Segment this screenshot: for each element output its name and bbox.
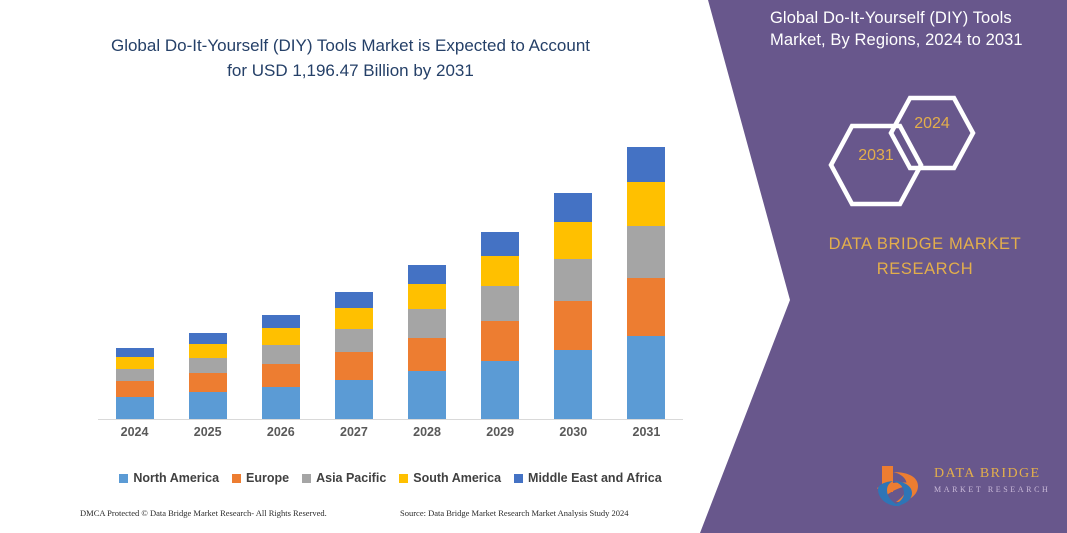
bar-column xyxy=(627,147,665,420)
legend-item[interactable]: South America xyxy=(399,471,501,485)
bar-segment xyxy=(554,350,592,420)
bar-segment xyxy=(408,338,446,371)
x-axis-tick-label: 2024 xyxy=(105,425,165,439)
footer-source: Source: Data Bridge Market Research Mark… xyxy=(400,508,629,518)
bar-segment xyxy=(408,265,446,285)
side-panel-title: Global Do-It-Yourself (DIY) Tools Market… xyxy=(770,8,1060,52)
legend-item[interactable]: Middle East and Africa xyxy=(514,471,662,485)
hexagon-group: 2031 2024 xyxy=(818,95,1018,205)
bar-segment xyxy=(554,193,592,222)
hexagon-2024-label: 2024 xyxy=(888,115,976,133)
x-axis-tick-label: 2028 xyxy=(397,425,457,439)
bar-column xyxy=(408,265,446,421)
bar-segment xyxy=(554,259,592,302)
legend-item[interactable]: Asia Pacific xyxy=(302,471,386,485)
bar-segment xyxy=(335,380,373,420)
bar-segment xyxy=(554,301,592,349)
legend-label: North America xyxy=(133,471,219,485)
bar-segment xyxy=(481,286,519,321)
x-axis-tick-label: 2029 xyxy=(470,425,530,439)
bar-segment xyxy=(116,397,154,420)
bar-column xyxy=(335,292,373,420)
bar-segment xyxy=(189,333,227,344)
chart-title-line-2: for USD 1,196.47 Billion by 2031 xyxy=(78,59,623,84)
x-axis-labels: 20242025202620272028202920302031 xyxy=(98,425,683,445)
footer-copyright: DMCA Protected © Data Bridge Market Rese… xyxy=(80,508,327,518)
bar-segment xyxy=(189,344,227,358)
bar-segment xyxy=(481,321,519,361)
bar-segment xyxy=(262,364,300,387)
bar-column xyxy=(189,333,227,420)
x-axis-tick-label: 2027 xyxy=(324,425,384,439)
legend-item[interactable]: Europe xyxy=(232,471,289,485)
bar-segment xyxy=(408,309,446,338)
bar-column xyxy=(262,315,300,420)
bar-segment xyxy=(335,308,373,329)
side-panel-title-line-2: Market, By Regions, 2024 to 2031 xyxy=(770,30,1060,52)
bar-segment xyxy=(116,381,154,397)
data-bridge-logo-text: DATA BRIDGE MARKET RESEARCH xyxy=(934,466,1050,494)
x-axis-tick-label: 2026 xyxy=(251,425,311,439)
legend-label: Europe xyxy=(246,471,289,485)
side-panel-title-line-1: Global Do-It-Yourself (DIY) Tools xyxy=(770,8,1060,30)
x-axis-tick-label: 2030 xyxy=(543,425,603,439)
bar-column xyxy=(481,232,519,420)
bar-segment xyxy=(627,147,665,182)
x-axis-tick-label: 2031 xyxy=(616,425,676,439)
x-axis-line xyxy=(98,419,683,420)
hexagon-2024: 2024 xyxy=(888,95,976,171)
data-bridge-logo-icon xyxy=(874,462,928,510)
bar-segment xyxy=(189,358,227,373)
legend-swatch-icon xyxy=(232,474,241,483)
brand-name-line-2: RESEARCH xyxy=(790,257,1060,282)
legend-swatch-icon xyxy=(514,474,523,483)
legend-swatch-icon xyxy=(302,474,311,483)
bar-segment xyxy=(627,226,665,278)
infographic-canvas: Global Do-It-Yourself (DIY) Tools Market… xyxy=(0,0,1067,533)
bar-segment xyxy=(481,361,519,420)
chart-title-line-1: Global Do-It-Yourself (DIY) Tools Market… xyxy=(78,34,623,59)
legend-swatch-icon xyxy=(119,474,128,483)
bar-segment xyxy=(481,256,519,286)
bar-segment xyxy=(481,232,519,256)
bar-segment xyxy=(627,182,665,227)
legend-swatch-icon xyxy=(399,474,408,483)
legend-label: Asia Pacific xyxy=(316,471,386,485)
bar-segment xyxy=(627,336,665,420)
bar-segment xyxy=(554,222,592,259)
bar-segment xyxy=(335,329,373,352)
bar-segment xyxy=(116,369,154,382)
bar-segment xyxy=(335,352,373,380)
legend-item[interactable]: North America xyxy=(119,471,219,485)
data-bridge-logo: DATA BRIDGE MARKET RESEARCH xyxy=(874,462,1059,510)
bar-segment xyxy=(189,373,227,392)
bar-segment xyxy=(262,387,300,420)
brand-name: DATA BRIDGE MARKET RESEARCH xyxy=(790,232,1060,282)
bar-column xyxy=(554,193,592,420)
bar-segment xyxy=(116,357,154,368)
logo-text-line-2: MARKET RESEARCH xyxy=(934,485,1050,494)
stacked-bar-chart xyxy=(98,110,683,420)
footer: DMCA Protected © Data Bridge Market Rese… xyxy=(0,508,700,528)
bar-segment xyxy=(262,315,300,328)
bar-segment xyxy=(408,284,446,309)
bar-segment xyxy=(262,328,300,345)
legend-label: South America xyxy=(413,471,501,485)
legend-label: Middle East and Africa xyxy=(528,471,662,485)
bar-segment xyxy=(335,292,373,308)
logo-text-line-1: DATA BRIDGE xyxy=(934,466,1050,482)
chart-title: Global Do-It-Yourself (DIY) Tools Market… xyxy=(78,34,623,83)
bar-segment xyxy=(262,345,300,364)
brand-name-line-1: DATA BRIDGE MARKET xyxy=(790,232,1060,257)
chart-legend: North AmericaEuropeAsia PacificSouth Ame… xyxy=(98,471,683,485)
bar-segment xyxy=(627,278,665,336)
bar-segment xyxy=(116,348,154,357)
bar-segment xyxy=(189,392,227,420)
bar-column xyxy=(116,348,154,420)
x-axis-tick-label: 2025 xyxy=(178,425,238,439)
bar-segment xyxy=(408,371,446,420)
